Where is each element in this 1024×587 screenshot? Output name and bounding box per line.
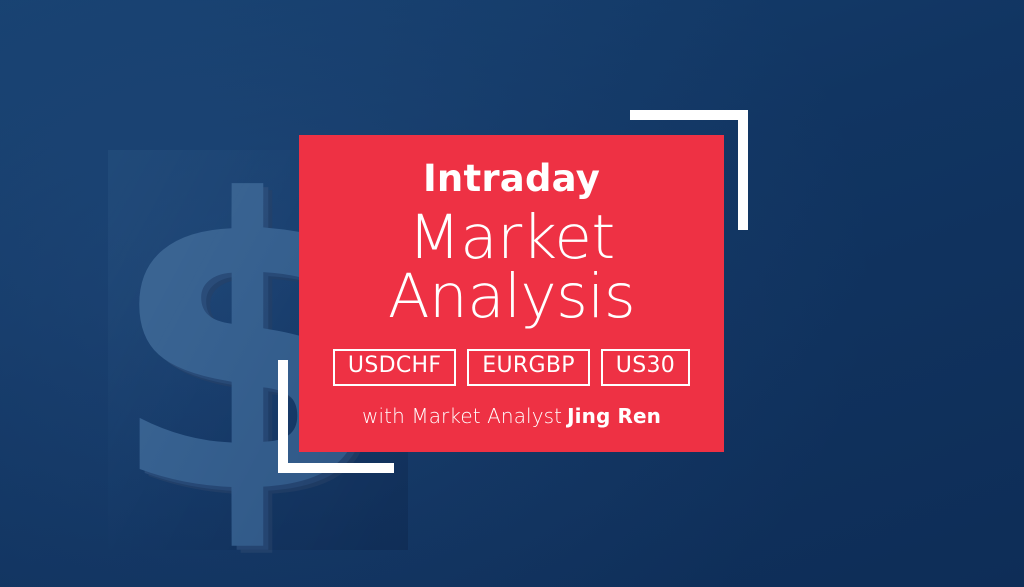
analyst-name: Jing Ren bbox=[567, 404, 661, 428]
page-title-line-1: Market bbox=[388, 208, 635, 267]
instrument-badge-us30[interactable]: US30 bbox=[601, 349, 690, 386]
kicker-text: Intraday bbox=[423, 159, 600, 199]
bracket-vertical-segment bbox=[278, 360, 288, 473]
dollar-sign-reflection: $ bbox=[118, 500, 418, 587]
page-title-line-2: Analysis bbox=[388, 267, 635, 326]
content-card: Intraday Market Analysis USDCHF EURGBP U… bbox=[299, 135, 724, 452]
byline: with Market AnalystJing Ren bbox=[362, 404, 661, 428]
instrument-badge-list: USDCHF EURGBP US30 bbox=[333, 349, 690, 386]
bracket-vertical-segment bbox=[738, 110, 748, 230]
instrument-badge-usdchf[interactable]: USDCHF bbox=[333, 349, 456, 386]
instrument-badge-eurgbp[interactable]: EURGBP bbox=[467, 349, 590, 386]
intraday-market-analysis-banner: $ $ $ $ Intraday Market Analysis USDCHF … bbox=[0, 0, 1024, 587]
page-title: Market Analysis bbox=[388, 208, 635, 326]
bracket-horizontal-segment bbox=[278, 463, 394, 473]
byline-prefix: with Market Analyst bbox=[362, 404, 562, 428]
bracket-horizontal-segment bbox=[630, 110, 748, 120]
